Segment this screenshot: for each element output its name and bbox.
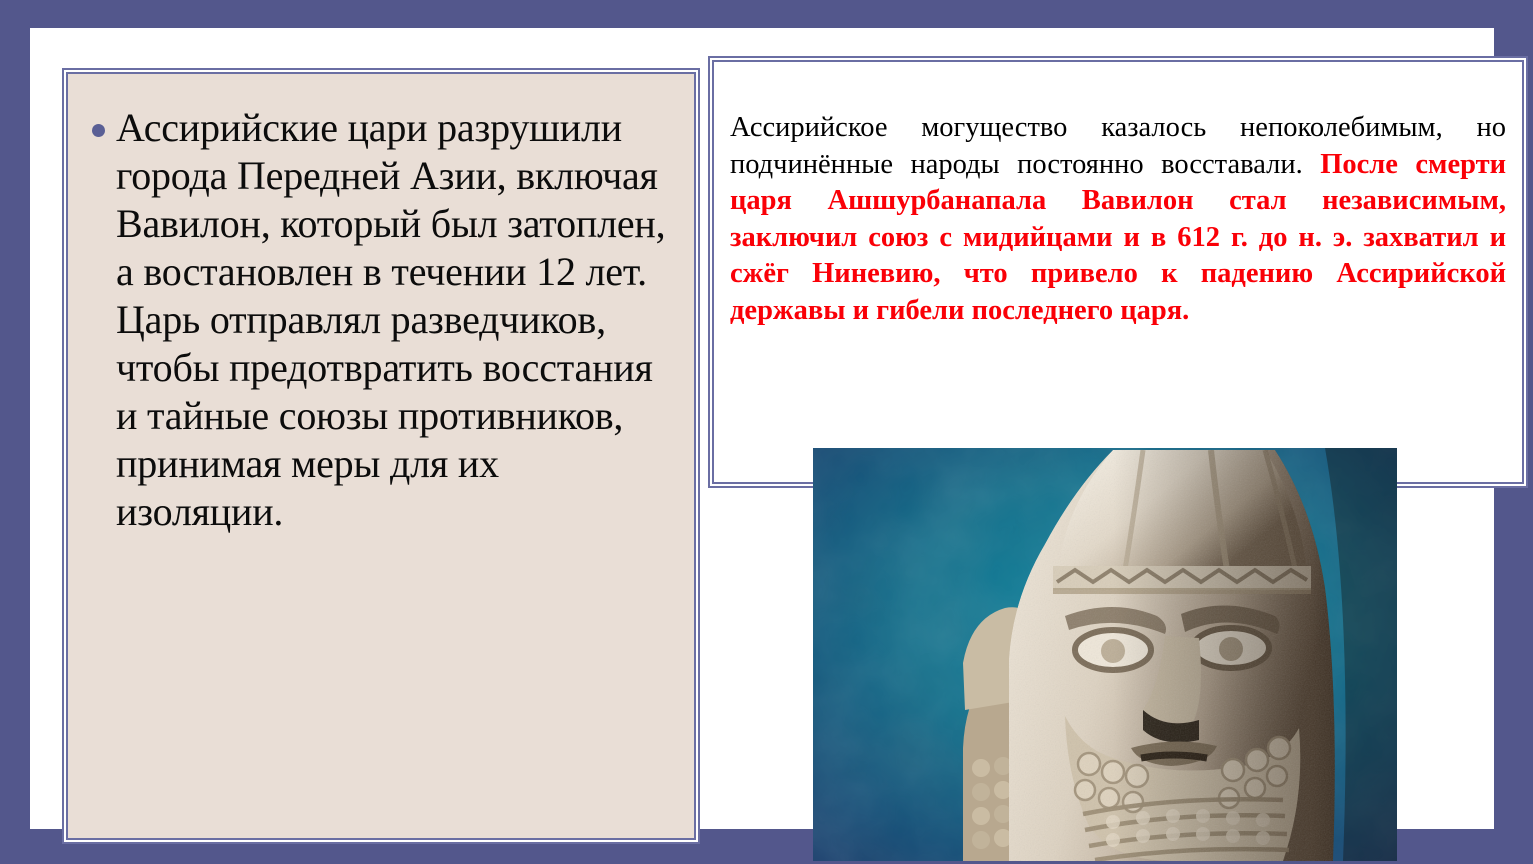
statue-illustration: [813, 448, 1397, 861]
list-item: Ассирийские цари разрушили города Передн…: [90, 104, 670, 536]
bullet-point-icon: [92, 124, 105, 137]
right-text-box: Ассирийское могущество казалось непоколе…: [712, 60, 1524, 484]
left-bullet-text: Ассирийские цари разрушили города Передн…: [116, 105, 665, 534]
slide-surface: Ассирийские цари разрушили города Передн…: [30, 28, 1494, 829]
assyrian-king-statue-image: [813, 448, 1397, 861]
left-bullet-list: Ассирийские цари разрушили города Передн…: [90, 104, 670, 536]
left-text-box: Ассирийские цари разрушили города Передн…: [66, 72, 696, 840]
right-paragraph: Ассирийское могущество казалось непоколе…: [730, 110, 1506, 330]
